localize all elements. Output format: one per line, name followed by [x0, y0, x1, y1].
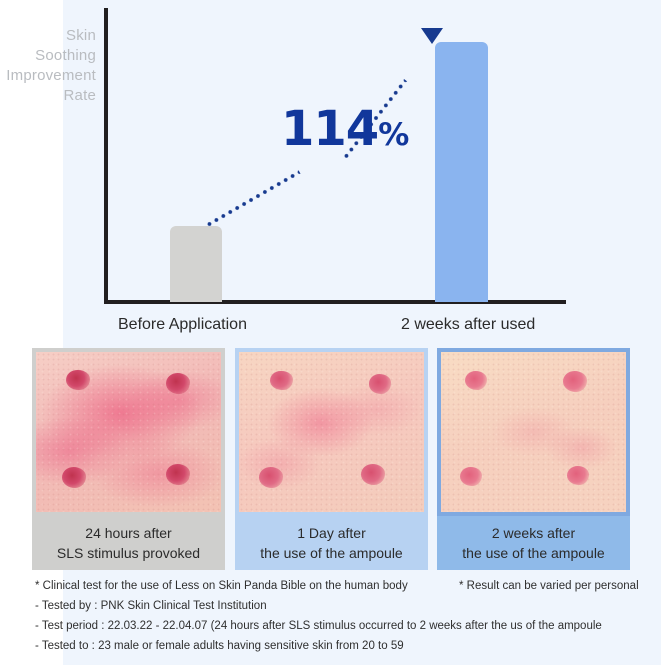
footnote-tested-to: - Tested to : 23 male or female adults h…: [35, 640, 404, 652]
footnote-disclaimer: * Result can be varied per personal: [459, 580, 639, 592]
photo-frame-2-weeks: [437, 348, 630, 516]
footnotes: * Clinical test for the use of Less on S…: [0, 578, 661, 665]
photo-frame-1-day: [235, 348, 428, 516]
clinical-photo-row: 24 hours after SLS stimulus provoked 1 D…: [0, 348, 661, 570]
photo-caption-2-weeks: 2 weeks after the use of the ampoule: [437, 516, 630, 570]
x-label-before-application: Before Application: [118, 316, 247, 334]
x-label-2-weeks-after-used: 2 weeks after used: [401, 316, 535, 334]
caption-line-1: 1 Day after: [297, 523, 365, 543]
y-axis-label-line-3: Improvement: [0, 66, 96, 86]
caption-line-1: 2 weeks after: [492, 523, 575, 543]
y-axis-line: [104, 8, 108, 304]
trend-arrow-icon: [421, 28, 443, 44]
bar-before-application: [170, 226, 222, 302]
percent-symbol: %: [378, 117, 409, 153]
improvement-percentage-number: 114: [281, 101, 378, 157]
photo-caption-24-hours: 24 hours after SLS stimulus provoked: [32, 516, 225, 570]
caption-line-2: the use of the ampoule: [260, 543, 402, 563]
y-axis-label-line-1: Skin: [0, 26, 96, 46]
photo-frame-24-hours: [32, 348, 225, 516]
improvement-percentage: 114%: [281, 101, 409, 157]
photo-caption-1-day: 1 Day after the use of the ampoule: [235, 516, 428, 570]
y-axis-label: Skin Soothing Improvement Rate: [0, 26, 96, 106]
y-axis-label-line-2: Soothing: [0, 46, 96, 66]
caption-line-1: 24 hours after: [85, 523, 171, 543]
caption-line-2: SLS stimulus provoked: [57, 543, 200, 563]
infographic-root: Skin Soothing Improvement Rate 114% Befo…: [0, 0, 661, 665]
footnote-tested-by: - Tested by : PNK Skin Clinical Test Ins…: [35, 600, 267, 612]
bar-2-weeks-after-used: [435, 42, 488, 302]
trend-dotted-line-lower: [205, 170, 301, 227]
skin-photo-24-hours: [36, 352, 221, 512]
y-axis-label-line-4: Rate: [0, 86, 96, 106]
skin-photo-2-weeks: [441, 352, 626, 512]
improvement-rate-chart: Skin Soothing Improvement Rate 114% Befo…: [0, 0, 661, 340]
footnote-clinical-test: * Clinical test for the use of Less on S…: [35, 580, 408, 592]
caption-line-2: the use of the ampoule: [462, 543, 604, 563]
skin-photo-1-day: [239, 352, 424, 512]
footnote-test-period: - Test period : 22.03.22 - 22.04.07 (24 …: [35, 620, 602, 632]
